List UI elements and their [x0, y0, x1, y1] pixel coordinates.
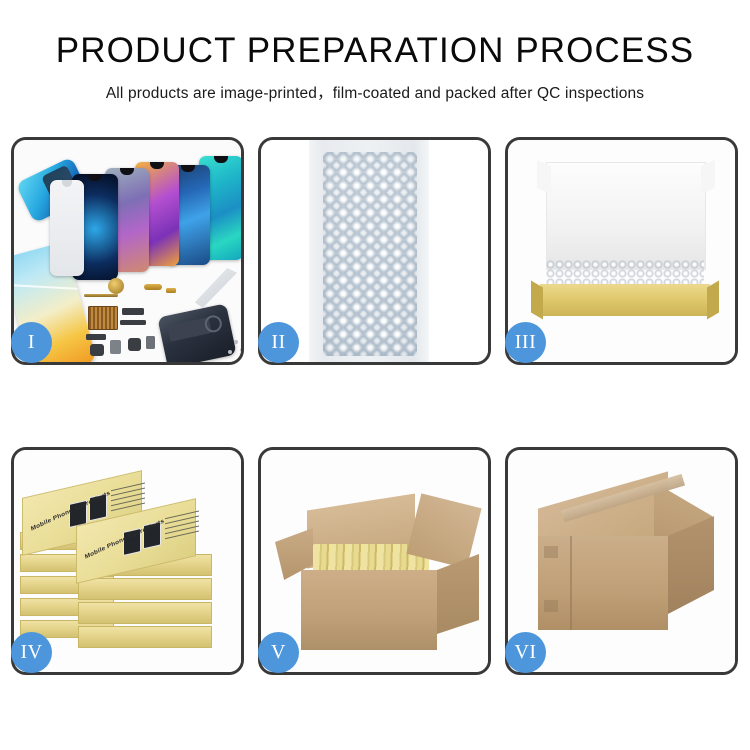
screw-icon-3 — [228, 350, 232, 354]
process-step-panel-4[interactable]: Mobile Phone Spare Parts Mobile Phone Sp… — [11, 447, 244, 675]
stacked-box-front-4 — [78, 626, 212, 648]
process-step-panel-1[interactable]: I — [11, 137, 244, 365]
stacked-box-front-2 — [78, 578, 212, 600]
carton-handle-notch-top — [544, 546, 558, 558]
vibrator-part-icon — [90, 344, 104, 356]
bracket-part-icon — [86, 334, 106, 340]
sealed-carton-scene — [508, 450, 735, 672]
camera-module-part-icon — [122, 308, 144, 315]
flex-cable-part-icon — [84, 294, 118, 297]
step-badge-2: II — [258, 322, 299, 363]
step-badge-4: IV — [11, 632, 52, 673]
step-badge-6: VI — [505, 632, 546, 673]
bubble-wrapped-contents — [546, 260, 704, 286]
process-step-panel-3[interactable]: III — [505, 137, 738, 365]
products-scene — [14, 140, 241, 362]
carton-side-face — [437, 554, 479, 634]
carton-seam-line — [570, 536, 572, 630]
step-1-image — [14, 140, 241, 362]
logic-board-icon — [157, 303, 236, 362]
carton-handle-notch-bottom — [544, 600, 558, 612]
box-spec-line-1 — [111, 482, 145, 491]
box-lid-white — [546, 162, 706, 270]
step-badge-3: III — [505, 322, 546, 363]
taptic-part-icon — [146, 336, 155, 349]
page-header: PRODUCT PREPARATION PROCESS All products… — [0, 0, 750, 103]
screw-icon-1 — [234, 340, 238, 344]
process-step-panel-5[interactable]: V — [258, 447, 491, 675]
box-front-kraft — [540, 284, 710, 316]
screw-icon-2 — [240, 348, 241, 352]
connector-part-icon — [166, 288, 176, 293]
phone-glass-panel — [50, 180, 84, 276]
stacked-boxes-scene: Mobile Phone Spare Parts Mobile Phone Sp… — [14, 450, 241, 672]
stacked-box-front-3 — [78, 602, 212, 624]
step-badge-5: V — [258, 632, 299, 673]
process-step-panel-2[interactable]: II — [258, 137, 491, 365]
step-3-image — [508, 140, 735, 362]
carton-front-face — [301, 570, 437, 650]
process-step-panel-6[interactable]: VI — [505, 447, 738, 675]
step-6-image — [508, 450, 735, 672]
step-5-image — [261, 450, 488, 672]
button-flex-part-icon — [144, 284, 162, 290]
page-subtitle: All products are image-printed，film-coat… — [0, 81, 750, 103]
process-step-grid: I II III — [11, 137, 739, 675]
step-2-image — [261, 140, 488, 362]
box-spec-line-6 — [165, 510, 199, 519]
sim-tray-part-icon — [110, 340, 121, 354]
bubble-wrap-scene — [261, 140, 488, 362]
open-carton-scene — [261, 450, 488, 672]
page-title: PRODUCT PREPARATION PROCESS — [0, 33, 750, 68]
chip-array-part-icon — [88, 306, 118, 330]
speaker-part-icon — [108, 278, 124, 294]
step-badge-1: I — [11, 322, 52, 363]
ribbon-part-icon — [120, 320, 146, 325]
inner-box-scene — [508, 140, 735, 362]
step-4-image: Mobile Phone Spare Parts Mobile Phone Sp… — [14, 450, 241, 672]
speaker-box-part-icon — [128, 338, 141, 351]
bubble-wrapped-product — [323, 152, 417, 356]
